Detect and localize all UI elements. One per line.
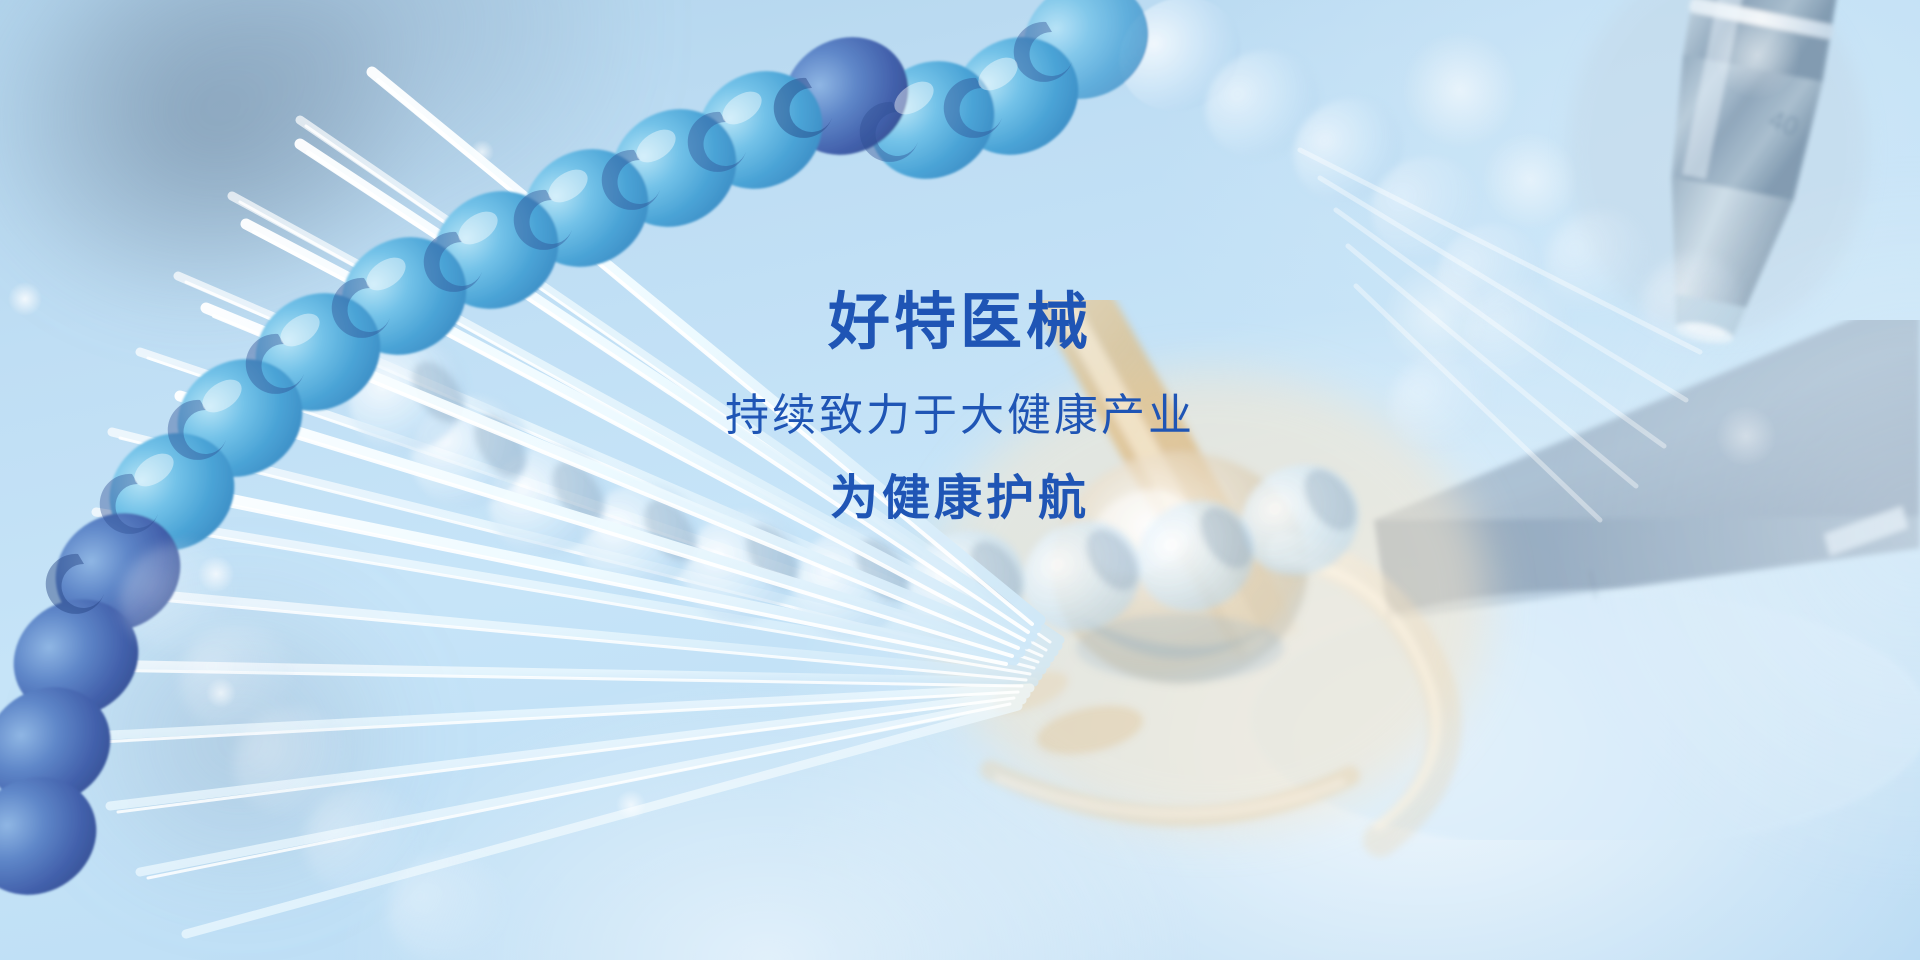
headline-block: 好特医械 持续致力于大健康产业 为健康护航 — [0, 290, 1920, 526]
page-tagline: 为健康护航 — [830, 472, 1090, 526]
page-title: 好特医械 — [828, 290, 1092, 357]
page-subtitle: 持续致力于大健康产业 — [725, 391, 1195, 440]
hero-banner: 40 — [0, 0, 1920, 960]
